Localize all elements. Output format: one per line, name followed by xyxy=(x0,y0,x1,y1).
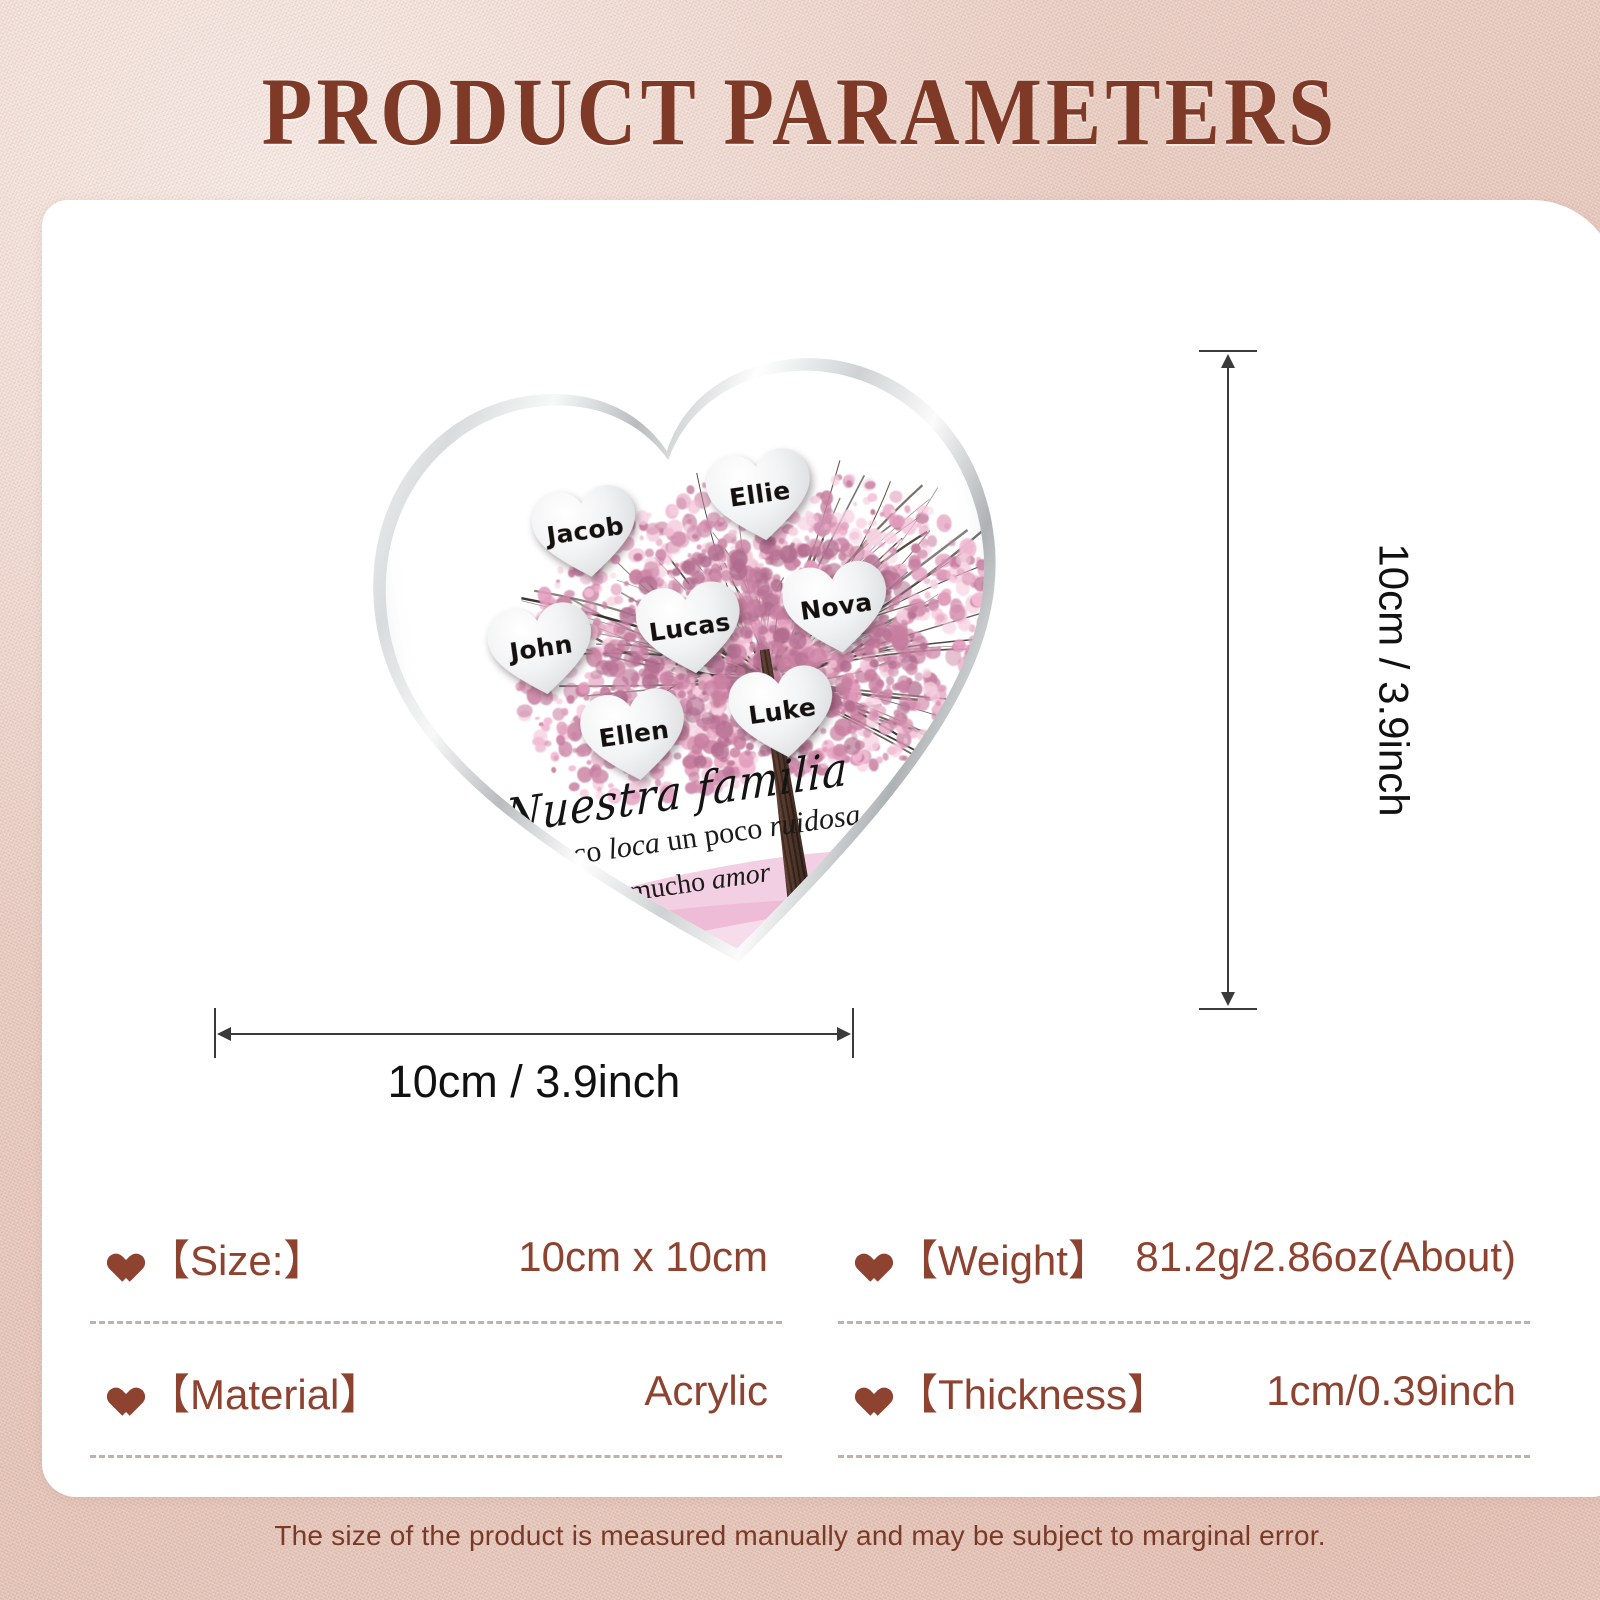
name-heart: John xyxy=(481,595,601,705)
blossom-cluster xyxy=(572,747,577,752)
blossom-cluster xyxy=(989,666,1003,681)
blossom-cluster xyxy=(969,706,976,712)
blossom-cluster xyxy=(544,740,552,746)
blossom-cluster xyxy=(1000,621,1017,638)
blossom-cluster xyxy=(1005,631,1020,647)
blossom-cluster xyxy=(613,595,623,605)
blossom-cluster xyxy=(551,766,557,772)
blossom-cluster xyxy=(999,651,1011,662)
blossom-cluster xyxy=(879,666,884,672)
spec-row: 【Material】Acrylic xyxy=(90,1324,782,1458)
blossom-cluster xyxy=(561,708,569,716)
height-dimension-label: 10cm / 3.9inch xyxy=(1370,543,1418,816)
spec-label: 【Weight】 xyxy=(896,1227,1110,1288)
blossom-cluster xyxy=(985,621,1004,643)
footer-disclaimer: The size of the product is measured manu… xyxy=(0,1520,1600,1552)
blossom-cluster xyxy=(984,650,995,659)
blossom-cluster xyxy=(949,717,958,725)
arrow-down-icon xyxy=(1221,992,1235,1006)
blossom-cluster xyxy=(994,618,999,623)
spec-label: 【Thickness】 xyxy=(896,1361,1169,1422)
name-heart: Ellie xyxy=(700,442,820,552)
heart-bullet-icon xyxy=(100,1242,134,1273)
blossom-cluster xyxy=(980,715,998,733)
blossom-cluster xyxy=(986,654,1003,670)
blossom-cluster xyxy=(996,681,1008,692)
blossom-cluster xyxy=(950,727,958,735)
width-dimension: 10cm / 3.9inch xyxy=(214,1000,854,1120)
spec-label-group: 【Weight】 xyxy=(848,1227,1110,1288)
blossom-cluster xyxy=(936,646,941,651)
blossom-cluster xyxy=(901,620,907,625)
spec-label-group: 【Size:】 xyxy=(100,1227,325,1288)
blossom-cluster xyxy=(994,584,999,590)
spec-value: 81.2g/2.86oz(About) xyxy=(1135,1233,1520,1281)
name-heart: Lucas xyxy=(630,575,750,685)
blossom-cluster xyxy=(981,663,990,671)
spec-value: 1cm/0.39inch xyxy=(1266,1367,1520,1415)
arrow-right-icon xyxy=(837,1027,851,1041)
spec-label: 【Size:】 xyxy=(148,1227,325,1288)
blossom-cluster xyxy=(978,714,986,722)
dim-tick-bottom xyxy=(1199,1008,1257,1010)
blossom-cluster xyxy=(991,605,1008,625)
spec-row: 【Size:】10cm x 10cm xyxy=(90,1190,782,1324)
blossom-cluster xyxy=(964,685,980,699)
name-heart: Jacob xyxy=(525,478,645,588)
heart-bullet-icon xyxy=(848,1376,882,1407)
spec-label: 【Material】 xyxy=(148,1361,381,1422)
spec-label-group: 【Thickness】 xyxy=(848,1361,1169,1422)
blossom-cluster-core xyxy=(885,676,894,685)
infographic-page: PRODUCT PARAMETERS JacobEllieJohnLucasNo… xyxy=(0,0,1600,1600)
blossom-cluster xyxy=(1005,668,1011,675)
blossom-cluster xyxy=(1000,634,1007,642)
arrow-up-icon xyxy=(1221,354,1235,368)
blossom-cluster xyxy=(940,731,959,751)
blossom-cluster xyxy=(997,656,1013,673)
blossom-cluster xyxy=(897,538,904,545)
spec-value: Acrylic xyxy=(644,1367,772,1415)
blossom-cluster-core xyxy=(838,659,852,673)
blossom-cluster xyxy=(992,697,1001,704)
arrow-left-icon xyxy=(217,1027,231,1041)
acrylic-heart-plaque: JacobEllieJohnLucasNovaEllenLuke Nuestra… xyxy=(336,304,1059,1027)
blossom-cluster xyxy=(1007,637,1015,644)
blossom-cluster xyxy=(983,661,999,677)
blossom-cluster xyxy=(975,689,986,701)
blossom-cluster xyxy=(942,725,958,739)
product-photo-area: JacobEllieJohnLucasNovaEllenLuke Nuestra… xyxy=(42,200,1600,1150)
name-heart: Luke xyxy=(722,659,842,769)
blossom-cluster xyxy=(950,718,966,732)
heart-bullet-icon xyxy=(848,1242,882,1273)
content-card: JacobEllieJohnLucasNovaEllenLuke Nuestra… xyxy=(42,200,1600,1497)
spec-value: 10cm x 10cm xyxy=(518,1233,772,1281)
blossom-cluster xyxy=(1000,623,1012,637)
dim-tick-right xyxy=(852,1008,854,1058)
spec-label-group: 【Material】 xyxy=(100,1361,381,1422)
blossom-cluster xyxy=(1000,619,1019,639)
blossom-cluster xyxy=(991,647,1010,669)
height-dimension: 10cm / 3.9inch xyxy=(1187,350,1357,1010)
dim-line-horizontal xyxy=(222,1033,846,1035)
spec-row: 【Weight】81.2g/2.86oz(About) xyxy=(838,1190,1530,1324)
spec-table: 【Size:】10cm x 10cm【Weight】81.2g/2.86oz(A… xyxy=(90,1190,1530,1458)
blossom-cluster xyxy=(975,681,989,697)
blossom-cluster xyxy=(971,727,977,734)
blossom-cluster xyxy=(888,547,896,554)
page-title: PRODUCT PARAMETERS xyxy=(112,56,1488,167)
name-heart: Nova xyxy=(776,554,896,664)
width-dimension-label: 10cm / 3.9inch xyxy=(214,1056,854,1108)
blossom-cluster xyxy=(990,601,1007,621)
blossom-cluster xyxy=(949,575,956,583)
heart-bullet-icon xyxy=(100,1376,134,1407)
blossom-cluster xyxy=(891,509,896,514)
blossom-cluster xyxy=(1001,633,1014,644)
dim-tick-top xyxy=(1199,350,1257,352)
blossom-cluster xyxy=(1002,670,1019,689)
blossom-cluster xyxy=(960,703,974,719)
blossom-cluster xyxy=(987,632,994,640)
blossom-cluster xyxy=(992,658,1000,666)
blossom-cluster xyxy=(990,629,1007,647)
spec-row: 【Thickness】1cm/0.39inch xyxy=(838,1324,1530,1458)
blossom-cluster xyxy=(969,673,988,696)
dim-tick-left xyxy=(214,1008,216,1058)
blossom-cluster xyxy=(953,724,966,736)
blossom-cluster xyxy=(992,669,1004,681)
name-heart: Ellen xyxy=(574,681,694,791)
dim-line-vertical xyxy=(1227,358,1229,1002)
blossom-cluster xyxy=(870,509,876,515)
